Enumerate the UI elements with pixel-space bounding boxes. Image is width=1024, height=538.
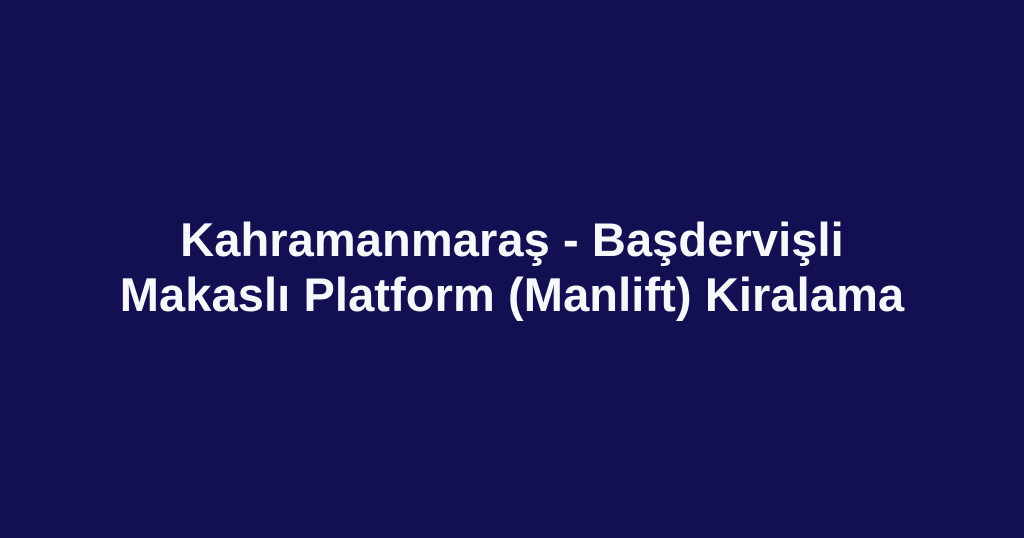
- headline-block: Kahramanmaraş - Başdervişli Makaslı Plat…: [0, 212, 1024, 322]
- title-banner: Kahramanmaraş - Başdervişli Makaslı Plat…: [0, 0, 1024, 538]
- page-title: Kahramanmaraş - Başdervişli Makaslı Plat…: [40, 212, 984, 322]
- page-title-line-1: Kahramanmaraş - Başdervişli: [40, 212, 984, 267]
- page-title-line-2: Makaslı Platform (Manlift) Kiralama: [40, 267, 984, 322]
